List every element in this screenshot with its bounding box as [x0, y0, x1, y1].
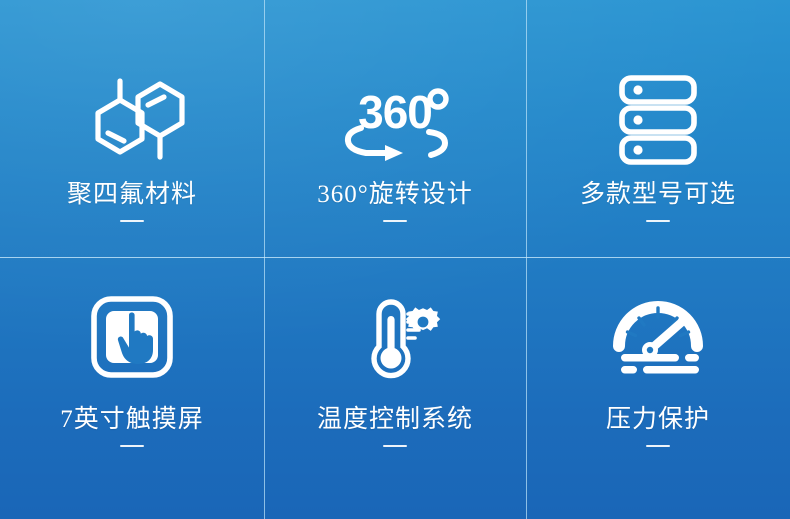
- title-underline: [646, 445, 670, 447]
- title-underline: [383, 445, 407, 447]
- feature-title: 压力保护: [606, 407, 710, 432]
- feature-cell-touchscreen[interactable]: 7英寸触摸屏: [0, 257, 264, 519]
- server-stack-icon: [617, 74, 699, 166]
- svg-text:360: 360: [358, 86, 432, 138]
- feature-cell-temperature[interactable]: 温度控制系统: [264, 257, 526, 519]
- title-underline: [120, 220, 144, 222]
- touchscreen-hand-icon: [90, 291, 174, 383]
- pressure-gauge-icon: [612, 291, 704, 383]
- feature-title: 360°旋转设计: [317, 182, 473, 207]
- feature-cell-pressure[interactable]: 压力保护: [526, 257, 790, 519]
- feature-board: 聚四氟材料 360 360°旋转设计: [0, 0, 790, 519]
- feature-title: 7英寸触摸屏: [60, 407, 204, 432]
- feature-title: 温度控制系统: [317, 407, 473, 432]
- feature-cell-rotation[interactable]: 360 360°旋转设计: [264, 0, 526, 257]
- 360-rotation-icon: 360: [335, 74, 455, 166]
- feature-cell-models[interactable]: 多款型号可选: [526, 0, 790, 257]
- molecule-hexagons-icon: [76, 74, 188, 166]
- feature-grid: 聚四氟材料 360 360°旋转设计: [0, 0, 790, 519]
- title-underline: [646, 220, 670, 222]
- feature-title: 聚四氟材料: [67, 182, 197, 207]
- title-underline: [120, 445, 144, 447]
- feature-cell-material[interactable]: 聚四氟材料: [0, 0, 264, 257]
- title-underline: [383, 220, 407, 222]
- thermometer-gear-icon: [349, 291, 441, 383]
- feature-title: 多款型号可选: [580, 182, 736, 207]
